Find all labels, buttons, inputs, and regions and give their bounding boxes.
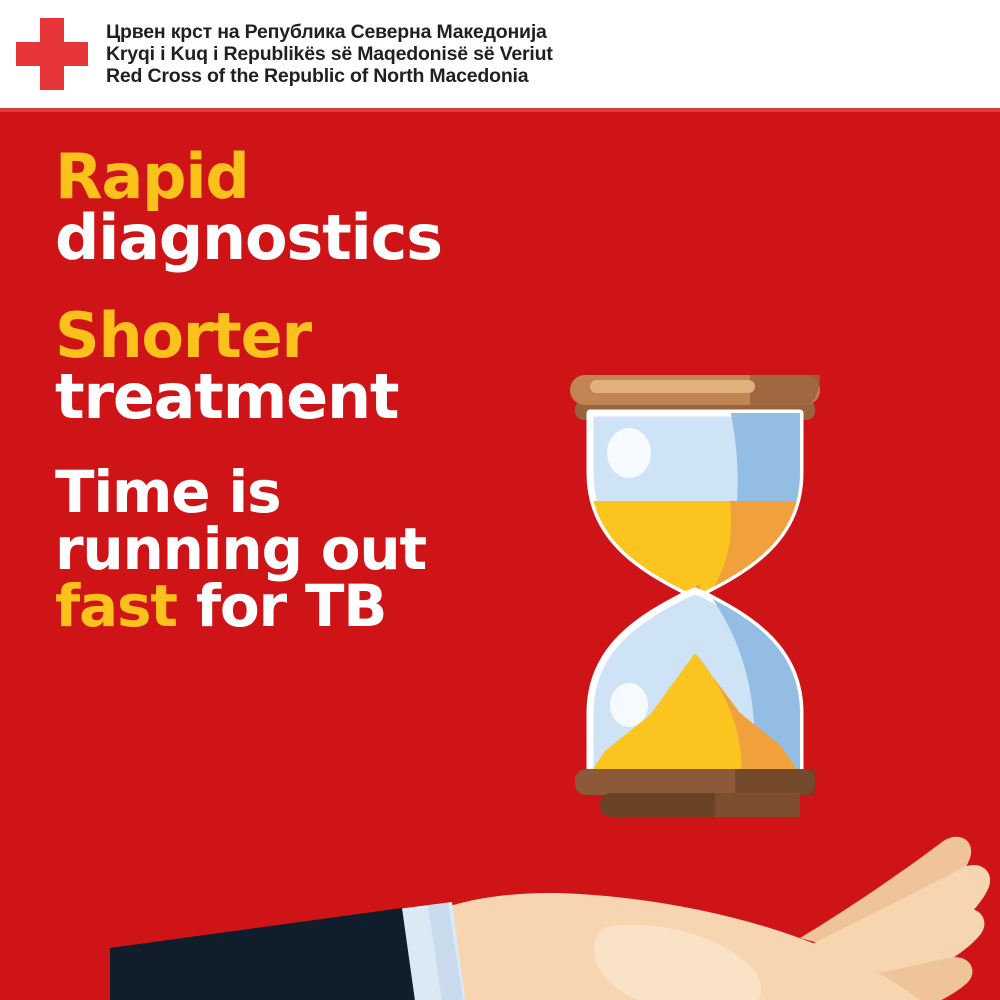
headline-line-fast-for-tb: fast for TB	[55, 578, 525, 635]
organization-names: Црвен крст на Република Северна Македони…	[106, 21, 553, 88]
hourglass-lower-bulb	[587, 591, 807, 778]
headline-word-for-tb: for TB	[177, 572, 386, 640]
top-edge-highlight	[0, 108, 1000, 112]
org-name-english: Red Cross of the Republic of North Maced…	[106, 65, 553, 87]
headline-group: Rapid diagnostics Shorter treatment Time…	[55, 146, 525, 636]
org-name-albanian: Kryqi i Kuq i Republikës së Maqedonisë s…	[106, 43, 553, 65]
headline-block-time-running-out: Time is running out fast for TB	[55, 464, 525, 636]
headline-word-fast: fast	[55, 572, 177, 640]
headline-line-running-out: running out	[55, 521, 525, 578]
poster: Црвен крст на Република Северна Македони…	[0, 0, 1000, 1000]
red-cross-vertical-bar	[40, 18, 64, 90]
headline-line-rapid: Rapid	[55, 146, 525, 207]
suit-sleeve	[110, 908, 430, 1000]
hourglass-upper-bulb	[590, 408, 810, 599]
headline-line-time-is: Time is	[55, 464, 525, 521]
headline-block-rapid-diagnostics: Rapid diagnostics	[55, 146, 525, 269]
headline-line-treatment: treatment	[55, 366, 525, 427]
headline-line-diagnostics: diagnostics	[55, 207, 525, 268]
org-name-macedonian: Црвен крст на Република Северна Македони…	[106, 21, 553, 43]
red-cross-icon	[16, 18, 88, 90]
poster-body: Rapid diagnostics Shorter treatment Time…	[0, 108, 1000, 1000]
headline-line-shorter: Shorter	[55, 305, 525, 366]
headline-block-shorter-treatment: Shorter treatment	[55, 305, 525, 428]
hourglass-icon	[545, 353, 845, 833]
open-hand-icon	[330, 798, 1000, 1000]
poster-header: Црвен крст на Република Северна Македони…	[0, 0, 1000, 108]
